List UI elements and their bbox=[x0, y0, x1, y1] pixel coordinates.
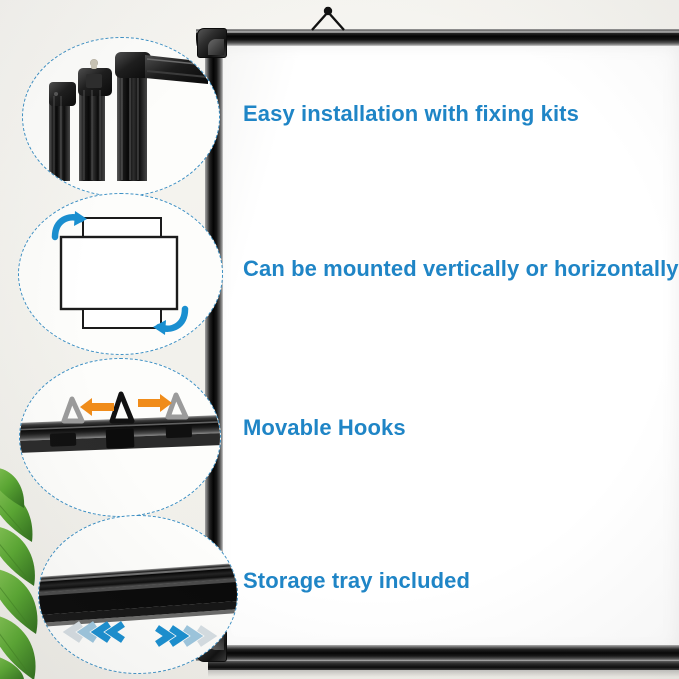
storage-tray-shadow bbox=[208, 670, 679, 677]
inset-fixing-kits bbox=[22, 37, 220, 197]
hanging-bracket-icon bbox=[305, 5, 351, 33]
feature-caption-tray: Storage tray included bbox=[243, 568, 470, 594]
inset-mount-orientation bbox=[18, 193, 223, 355]
storage-tray-bar bbox=[208, 661, 679, 670]
frame-corner-brackets-icon bbox=[23, 38, 219, 196]
decorative-plant bbox=[0, 468, 70, 679]
frame-rail-top-highlight bbox=[196, 31, 679, 33]
frame-rail-bottom bbox=[196, 645, 679, 661]
whiteboard-surface bbox=[215, 44, 679, 653]
feature-caption-orientation: Can be mounted vertically or horizontall… bbox=[243, 256, 679, 282]
feature-caption-fixing-kits: Easy installation with fixing kits bbox=[243, 101, 579, 127]
feature-caption-hooks: Movable Hooks bbox=[243, 415, 406, 441]
rotate-board-diagram-icon bbox=[19, 194, 222, 354]
product-feature-image: Easy installation with fixing kits Can b… bbox=[0, 0, 679, 679]
